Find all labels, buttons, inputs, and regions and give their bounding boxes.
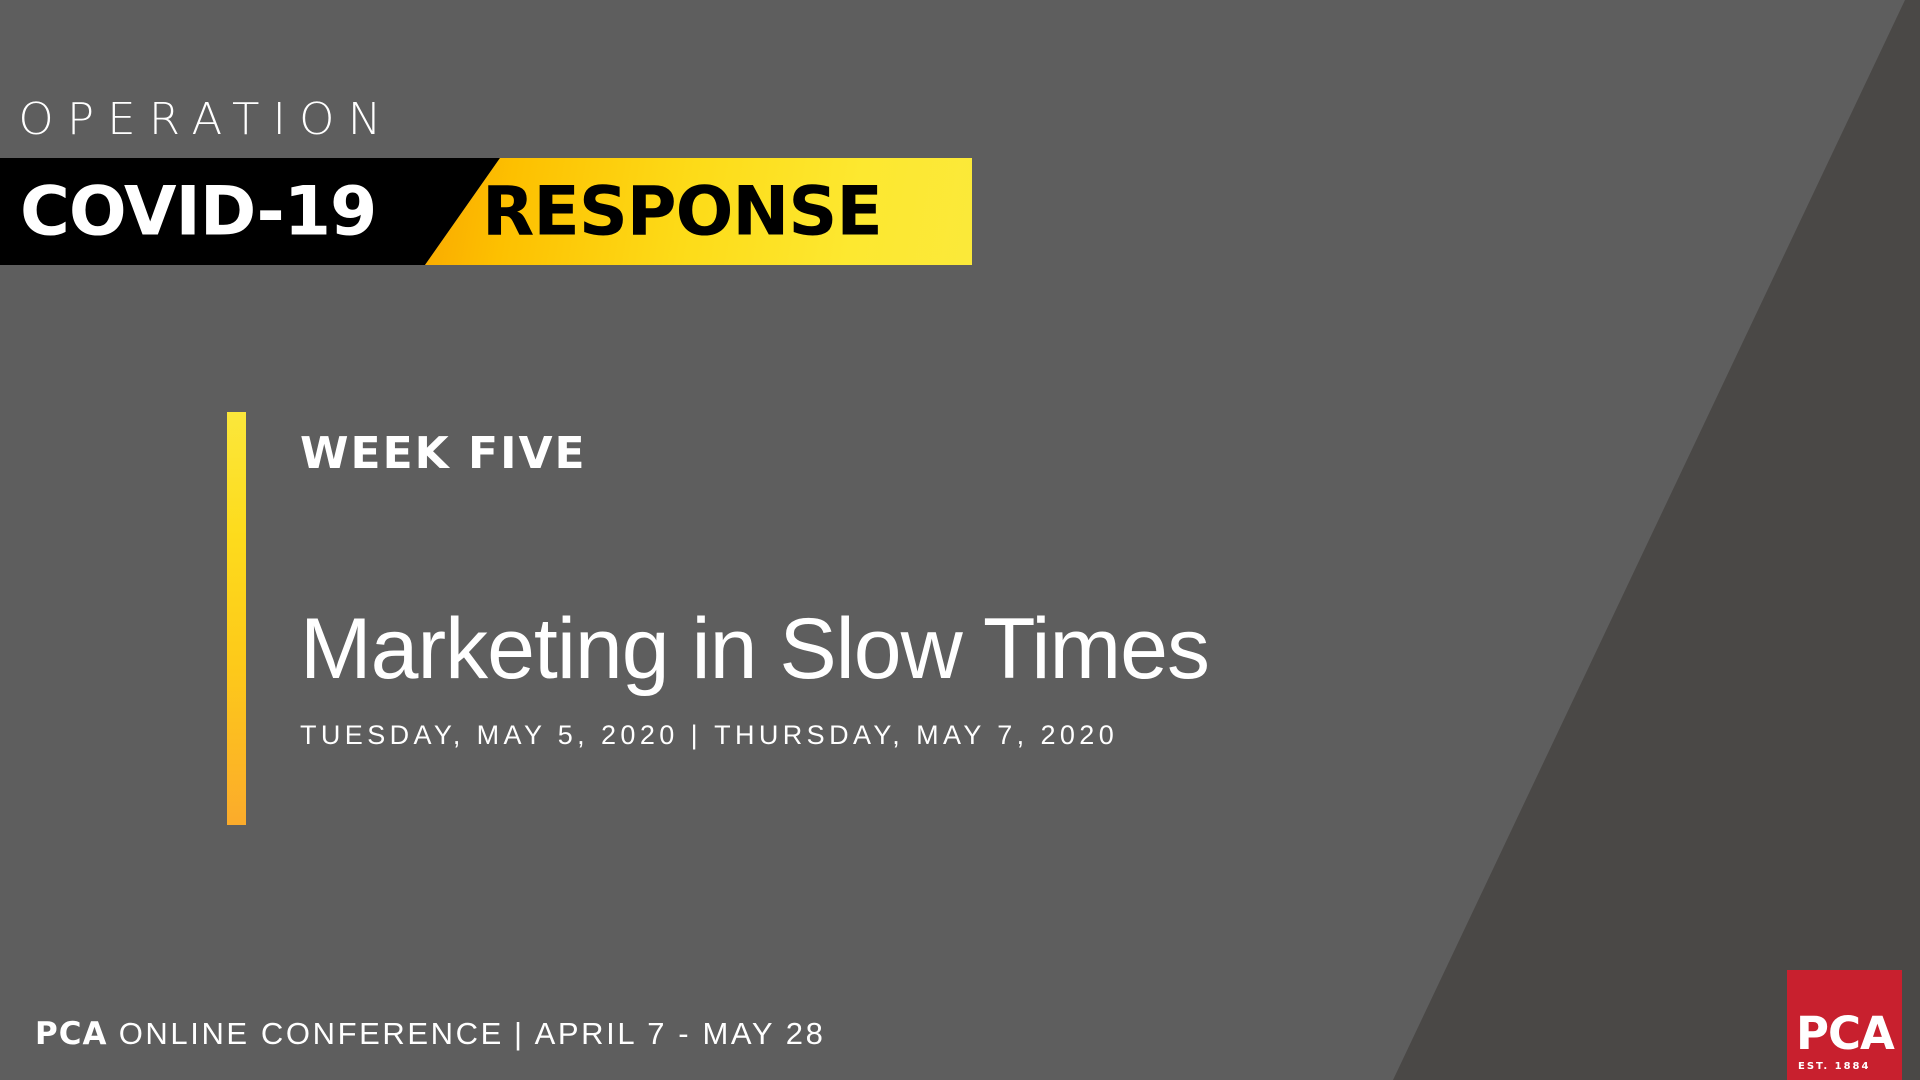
week-eyebrow-label: WEEK FIVE <box>300 432 1400 476</box>
dateline-separator: | <box>679 720 714 750</box>
presentation-slide: OPERATION COVID-19 RESPONSE WEEK FIVE Ma… <box>0 0 1920 1080</box>
session-dateline: TUESDAY, MAY 5, 2020|THURSDAY, MAY 7, 20… <box>300 720 1400 751</box>
pca-logo: PCA EST. 1884 <box>1787 970 1902 1080</box>
footer-brand-label: PCA <box>35 1016 107 1052</box>
footer-separator: | <box>504 1016 535 1051</box>
pca-logo-wordmark: PCA <box>1796 1011 1894 1056</box>
operation-covid-response-badge: OPERATION COVID-19 RESPONSE <box>0 98 975 265</box>
footer-event-label: ONLINE CONFERENCE <box>119 1016 504 1051</box>
conference-footer: PCA ONLINE CONFERENCE|APRIL 7 - MAY 28 <box>35 1016 825 1052</box>
session-copy-block: WEEK FIVE Marketing in Slow Times TUESDA… <box>300 412 1400 751</box>
badge-response-label: RESPONSE <box>482 172 882 251</box>
yellow-accent-rule <box>227 412 246 825</box>
footer-daterange-label: APRIL 7 - MAY 28 <box>535 1016 826 1051</box>
badge-covid-label: COVID-19 <box>20 172 376 251</box>
badge-bar: COVID-19 RESPONSE <box>0 158 975 265</box>
session-date-first: TUESDAY, MAY 5, 2020 <box>300 720 679 750</box>
pca-logo-established-label: EST. 1884 <box>1798 1062 1870 1072</box>
session-title: Marketing in Slow Times <box>300 606 1400 692</box>
badge-kicker-label: OPERATION <box>0 98 995 158</box>
session-date-second: THURSDAY, MAY 7, 2020 <box>714 720 1118 750</box>
